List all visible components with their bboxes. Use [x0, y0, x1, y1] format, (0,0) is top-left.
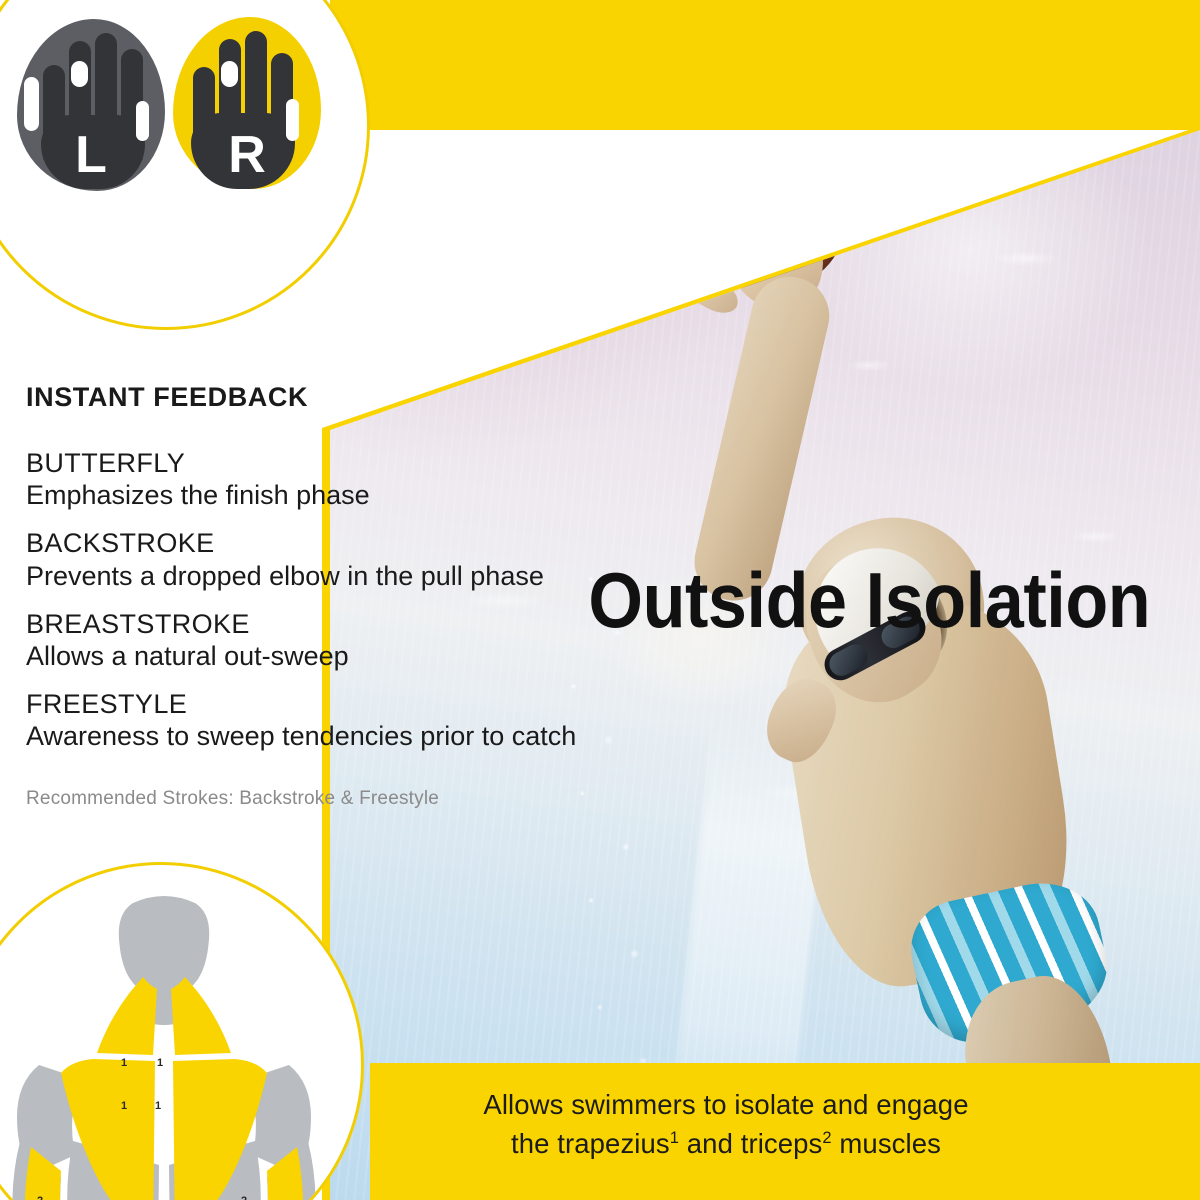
stroke-description: Allows a natural out-sweep — [26, 640, 726, 673]
stroke-name: FREESTYLE — [26, 689, 726, 720]
left-paddle-icon: L — [17, 19, 165, 191]
head-shape — [119, 896, 209, 1001]
right-paddle-letter: R — [173, 129, 321, 181]
infographic-card: Outside Isolation Allows swimmers to iso… — [0, 0, 1200, 1200]
stroke-description: Prevents a dropped elbow in the pull pha… — [26, 560, 726, 593]
stroke-feedback-list: BUTTERFLY Emphasizes the finish phase BA… — [26, 448, 726, 769]
stroke-description: Emphasizes the finish phase — [26, 479, 726, 512]
muscle-label-trapezius-3: 1 — [121, 1100, 127, 1112]
caption-line-2-pre: the trapezius — [511, 1128, 670, 1159]
trapezius-upper-left — [97, 977, 157, 1055]
right-paddle-icon: R — [173, 17, 321, 189]
caption-line-2-mid: and triceps — [679, 1128, 822, 1159]
muscle-label-trapezius-2: 1 — [157, 1057, 163, 1069]
stroke-name: BREASTSTROKE — [26, 609, 726, 640]
caption-text: Allows swimmers to isolate and engage th… — [416, 1086, 1036, 1163]
list-item: BACKSTROKE Prevents a dropped elbow in t… — [26, 528, 726, 592]
muscle-label-triceps-1: 2 — [37, 1195, 43, 1200]
caption-line-2-post: muscles — [832, 1128, 941, 1159]
anatomy-diagram-circle: 1 1 1 1 2 2 — [0, 862, 364, 1200]
muscle-label-triceps-2: 2 — [241, 1195, 247, 1200]
recommended-strokes-note: Recommended Strokes: Backstroke & Freest… — [26, 788, 439, 810]
section-title-instant-feedback: INSTANT FEEDBACK — [26, 382, 308, 413]
back-muscle-diagram — [0, 865, 364, 1200]
muscle-label-trapezius-1: 1 — [121, 1057, 127, 1069]
swimmer-thumb — [678, 266, 743, 320]
stroke-name: BUTTERFLY — [26, 448, 726, 479]
title-bar — [330, 0, 1200, 130]
trapezius-superscript: 1 — [670, 1128, 679, 1146]
triceps-superscript: 2 — [822, 1128, 831, 1146]
trapezius-upper-right — [171, 977, 231, 1055]
left-paddle-letter: L — [17, 129, 165, 181]
paddle-logo-circle: L R — [0, 0, 370, 330]
stroke-name: BACKSTROKE — [26, 528, 726, 559]
caption-line-1: Allows swimmers to isolate and engage — [483, 1089, 968, 1120]
list-item: BREASTSTROKE Allows a natural out-sweep — [26, 609, 726, 673]
stroke-description: Awareness to sweep tendencies prior to c… — [26, 720, 726, 753]
list-item: BUTTERFLY Emphasizes the finish phase — [26, 448, 726, 512]
list-item: FREESTYLE Awareness to sweep tendencies … — [26, 689, 726, 753]
muscle-label-trapezius-4: 1 — [155, 1100, 161, 1112]
